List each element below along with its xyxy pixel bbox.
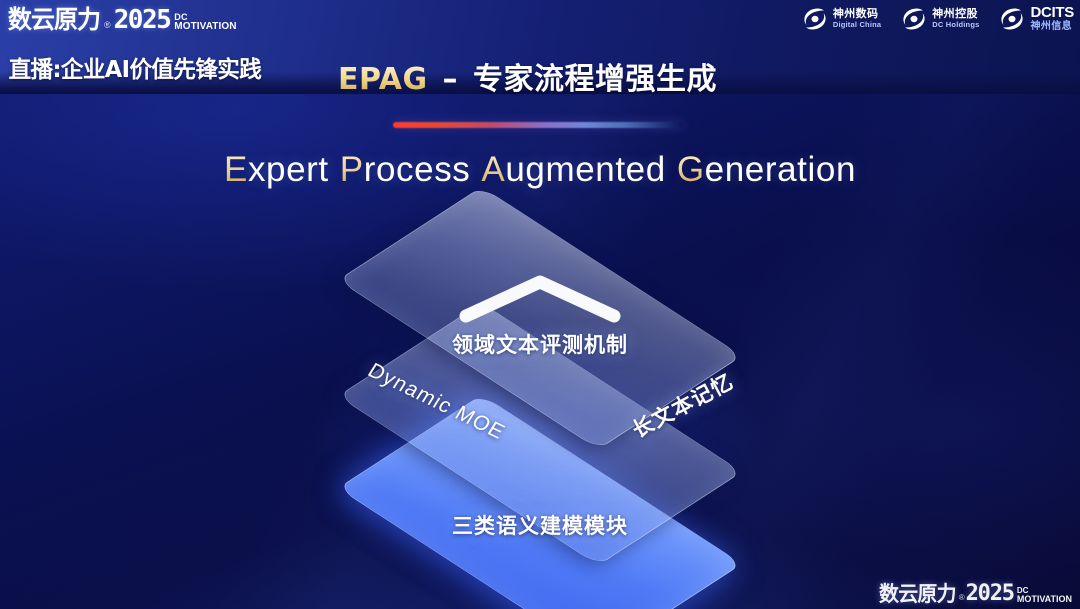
subtitle-cap-a: A <box>481 150 505 189</box>
layered-architecture-diagram: 领域文本评测机制 Dynamic MOE 长文本记忆 三类语义建模模块 <box>290 228 790 568</box>
watermark-motivation-label: MOTIVATION <box>1017 595 1072 603</box>
layer-label-bottom: 三类语义建模模块 <box>452 510 628 540</box>
logo-en-dcits: DCITS <box>1030 5 1074 20</box>
subtitle-rest-generation: eneration <box>705 150 856 189</box>
logo-cn-dc-holdings: 神州控股 <box>932 8 979 19</box>
brand-name-cn: 数云原力 <box>8 7 100 33</box>
subtitle-cap-p: P <box>340 150 364 189</box>
brand-dc-motivation: DC MOTIVATION <box>174 13 236 33</box>
swirl-icon <box>802 7 828 31</box>
page-title: EPAG – 专家流程增强生成 <box>338 54 717 98</box>
watermark-registered: ® <box>959 591 965 605</box>
logo-cn-dcits: 神州信息 <box>1030 22 1074 32</box>
live-session-title: 直播:企业AI价值先锋实践 <box>9 50 262 84</box>
page-title-acronym: EPAG <box>338 62 428 97</box>
top-banner: 数云原力 ® 2025 DC MOTIVATION 直播:企业AI价值先锋实践 … <box>0 0 1080 94</box>
page-title-dash: – <box>439 62 463 97</box>
logo-text-dcits: 神州信息 DCITS <box>1030 5 1074 32</box>
footer-watermark: 数云原力 ® 2025 DC MOTIVATION <box>877 583 1072 605</box>
logo-dc-holdings: 神州控股 DC Holdings <box>901 7 979 31</box>
logo-cn-digital-china: 神州数码 <box>833 8 881 19</box>
brand-motivation-label: MOTIVATION <box>174 22 236 31</box>
partner-logo-group: 神州数码 Digital China 神州控股 DC Holdings <box>802 5 1074 32</box>
swirl-icon <box>901 7 927 31</box>
subtitle-expanded-acronym: ExpertProcessAugmentedGeneration <box>0 150 1080 190</box>
swirl-icon <box>999 7 1025 31</box>
subtitle-rest-expert: xpert <box>248 150 329 189</box>
subtitle-cap-g: G <box>677 150 705 189</box>
gradient-divider <box>393 122 683 128</box>
watermark-dc-motivation: DC MOTIVATION <box>1017 587 1072 605</box>
watermark-year: 2025 <box>966 583 1014 605</box>
subtitle-rest-augmented: ugmented <box>505 150 665 189</box>
logo-dcits: 神州信息 DCITS <box>999 5 1074 32</box>
layer-label-top: 领域文本评测机制 <box>452 329 628 359</box>
slide-canvas: 数云原力 ® 2025 DC MOTIVATION 直播:企业AI价值先锋实践 … <box>0 0 1080 609</box>
logo-text-dc-holdings: 神州控股 DC Holdings <box>932 8 979 29</box>
watermark-name-cn: 数云原力 <box>879 583 956 605</box>
logo-en-dc-holdings: DC Holdings <box>932 21 979 29</box>
subtitle-rest-process: rocess <box>364 150 471 189</box>
brand-year: 2025 <box>114 7 171 33</box>
logo-digital-china: 神州数码 Digital China <box>802 7 881 31</box>
page-title-cn: 专家流程增强生成 <box>473 62 717 97</box>
registered-mark: ® <box>104 17 111 33</box>
subtitle-cap-e: E <box>224 150 248 189</box>
logo-en-digital-china: Digital China <box>833 21 881 29</box>
brand-lockup: 数云原力 ® 2025 DC MOTIVATION <box>6 3 306 33</box>
logo-text-digital-china: 神州数码 Digital China <box>833 8 881 29</box>
